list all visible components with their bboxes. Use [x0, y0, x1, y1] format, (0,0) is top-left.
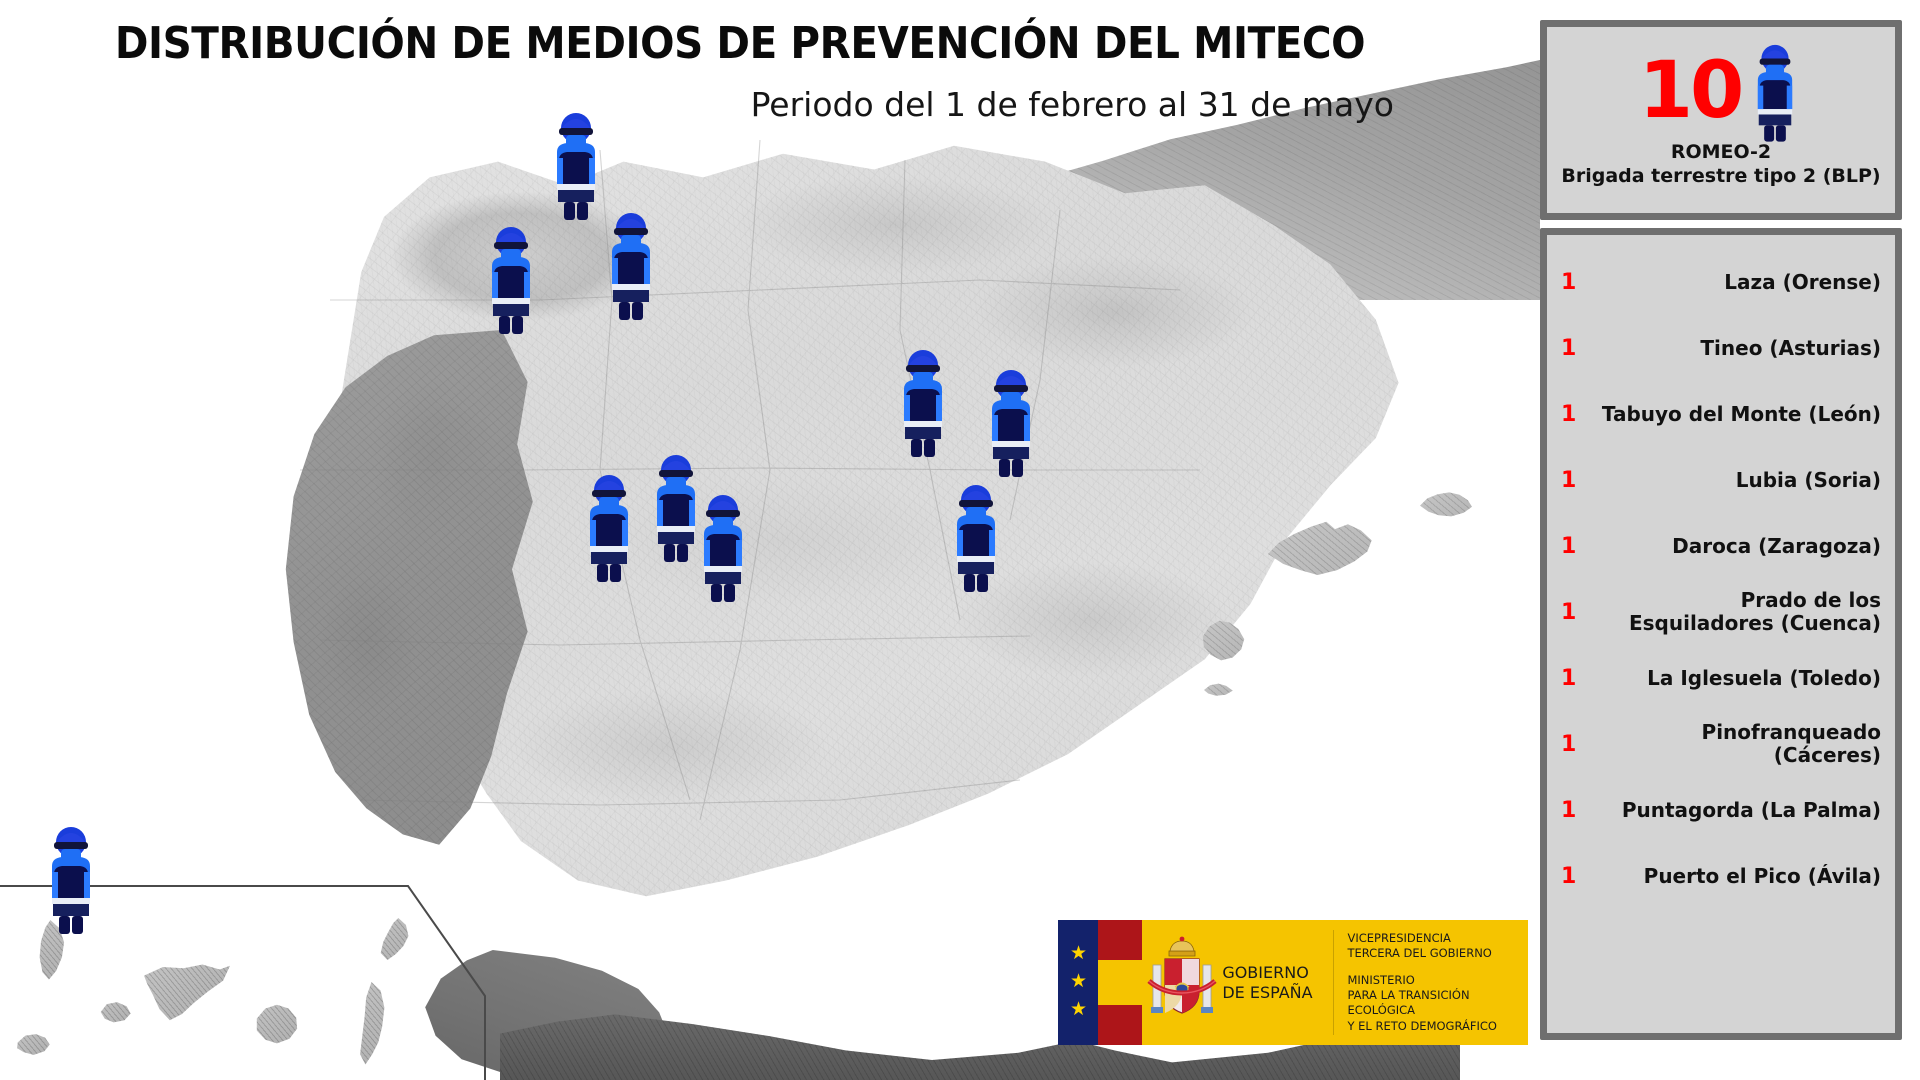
legend-row[interactable]: 1Daroca (Zaragoza): [1561, 513, 1881, 579]
coat-of-arms-icon: [1142, 920, 1222, 1045]
legend-row-quantity: 1: [1561, 732, 1587, 757]
ministry-label: VICEPRESIDENCIA TERCERA DEL GOBIERNO MIN…: [1333, 920, 1528, 1045]
legend-row-location: Prado de los Esquiladores (Cuenca): [1595, 589, 1881, 635]
ministerio-line-2: PARA LA TRANSICIÓN ECOLÓGICA: [1347, 988, 1528, 1019]
map-marker-firefighter-icon[interactable]: [480, 222, 542, 334]
flag-band-red-top: [1098, 920, 1142, 960]
eu-flag-icon: ★ ★ ★: [1058, 920, 1098, 1045]
map-marker-firefighter-icon[interactable]: [545, 108, 607, 220]
spain-flag-icon: [1098, 920, 1142, 1045]
legend-row-location: Tabuyo del Monte (León): [1595, 403, 1881, 426]
legend-title-secondary: Brigada terrestre tipo 2 (BLP): [1547, 165, 1895, 187]
flag-strip: ★ ★ ★: [1058, 920, 1142, 1045]
gobierno-line-2: DE ESPAÑA: [1222, 983, 1332, 1003]
map-marker-firefighter-icon[interactable]: [892, 345, 954, 457]
legend-row-quantity: 1: [1561, 864, 1587, 889]
legend-row-location: Laza (Orense): [1595, 271, 1881, 294]
legend-row[interactable]: 1La Iglesuela (Toledo): [1561, 645, 1881, 711]
ministerio-line-3: Y EL RETO DEMOGRÁFICO: [1347, 1019, 1528, 1034]
government-logo: ★ ★ ★: [1058, 920, 1528, 1045]
map-marker-firefighter-icon[interactable]: [980, 365, 1042, 477]
ministerio-line-1: MINISTERIO: [1347, 973, 1528, 988]
vicepresidencia-line-2: TERCERA DEL GOBIERNO: [1347, 946, 1528, 961]
legend-row-quantity: 1: [1561, 600, 1587, 625]
map-marker-firefighter-icon[interactable]: [600, 208, 662, 320]
legend-row-location: Puntagorda (La Palma): [1595, 799, 1881, 822]
map-marker-firefighter-icon[interactable]: [578, 470, 640, 582]
legend-row-location: Daroca (Zaragoza): [1595, 535, 1881, 558]
gobierno-de-espana-label: GOBIERNO DE ESPAÑA: [1222, 920, 1332, 1045]
legend-row[interactable]: 1Laza (Orense): [1561, 249, 1881, 315]
legend-row-location: La Iglesuela (Toledo): [1595, 667, 1881, 690]
legend-row-quantity: 1: [1561, 468, 1587, 493]
legend-panel: 10: [1540, 20, 1902, 1040]
legend-row-quantity: 1: [1561, 666, 1587, 691]
legend-row-quantity: 1: [1561, 336, 1587, 361]
legend-row-location: Puerto el Pico (Ávila): [1595, 865, 1881, 888]
legend-header-row: 10: [1547, 27, 1895, 145]
page-title: DISTRIBUCIÓN DE MEDIOS DE PREVENCIÓN DEL…: [59, 18, 1421, 69]
legend-row-location: Lubia (Soria): [1595, 469, 1881, 492]
legend-row[interactable]: 1Lubia (Soria): [1561, 447, 1881, 513]
legend-row[interactable]: 1Puerto el Pico (Ávila): [1561, 843, 1881, 909]
legend-row-quantity: 1: [1561, 534, 1587, 559]
legend-row-quantity: 1: [1561, 270, 1587, 295]
legend-row[interactable]: 1Tineo (Asturias): [1561, 315, 1881, 381]
legend-row-location: Pinofranqueado (Cáceres): [1595, 721, 1881, 767]
map-marker-firefighter-icon[interactable]: [692, 490, 754, 602]
legend-total-count: 10: [1639, 52, 1742, 130]
title-block: DISTRIBUCIÓN DE MEDIOS DE PREVENCIÓN DEL…: [0, 0, 1540, 124]
page-subtitle: Periodo del 1 de febrero al 31 de mayo: [0, 85, 1480, 124]
legend-row[interactable]: 1Tabuyo del Monte (León): [1561, 381, 1881, 447]
vicepresidencia-line-1: VICEPRESIDENCIA: [1347, 931, 1528, 946]
logo-text-gap: [1347, 962, 1528, 973]
legend-row[interactable]: 1Prado de los Esquiladores (Cuenca): [1561, 579, 1881, 645]
firefighter-icon: [1747, 39, 1803, 143]
legend-row[interactable]: 1Pinofranqueado (Cáceres): [1561, 711, 1881, 777]
flag-band-yellow: [1098, 960, 1142, 1004]
flag-band-red-bottom: [1098, 1005, 1142, 1045]
island-formentera: [1204, 682, 1234, 698]
map-marker-firefighter-icon[interactable]: [945, 480, 1007, 592]
legend-header-box: 10: [1540, 20, 1902, 220]
poster-root: DISTRIBUCIÓN DE MEDIOS DE PREVENCIÓN DEL…: [0, 0, 1920, 1080]
legend-row-quantity: 1: [1561, 402, 1587, 427]
legend-location-list: 1Laza (Orense)1Tineo (Asturias)1Tabuyo d…: [1540, 228, 1902, 1040]
legend-row-location: Tineo (Asturias): [1595, 337, 1881, 360]
map-canvas: DISTRIBUCIÓN DE MEDIOS DE PREVENCIÓN DEL…: [0, 0, 1540, 1080]
gobierno-line-1: GOBIERNO: [1222, 963, 1332, 983]
island-menorca: [1420, 490, 1472, 520]
legend-row[interactable]: 1Puntagorda (La Palma): [1561, 777, 1881, 843]
legend-row-quantity: 1: [1561, 798, 1587, 823]
map-marker-firefighter-icon[interactable]: [40, 822, 102, 934]
legend-title-primary: ROMEO-2: [1547, 141, 1895, 163]
